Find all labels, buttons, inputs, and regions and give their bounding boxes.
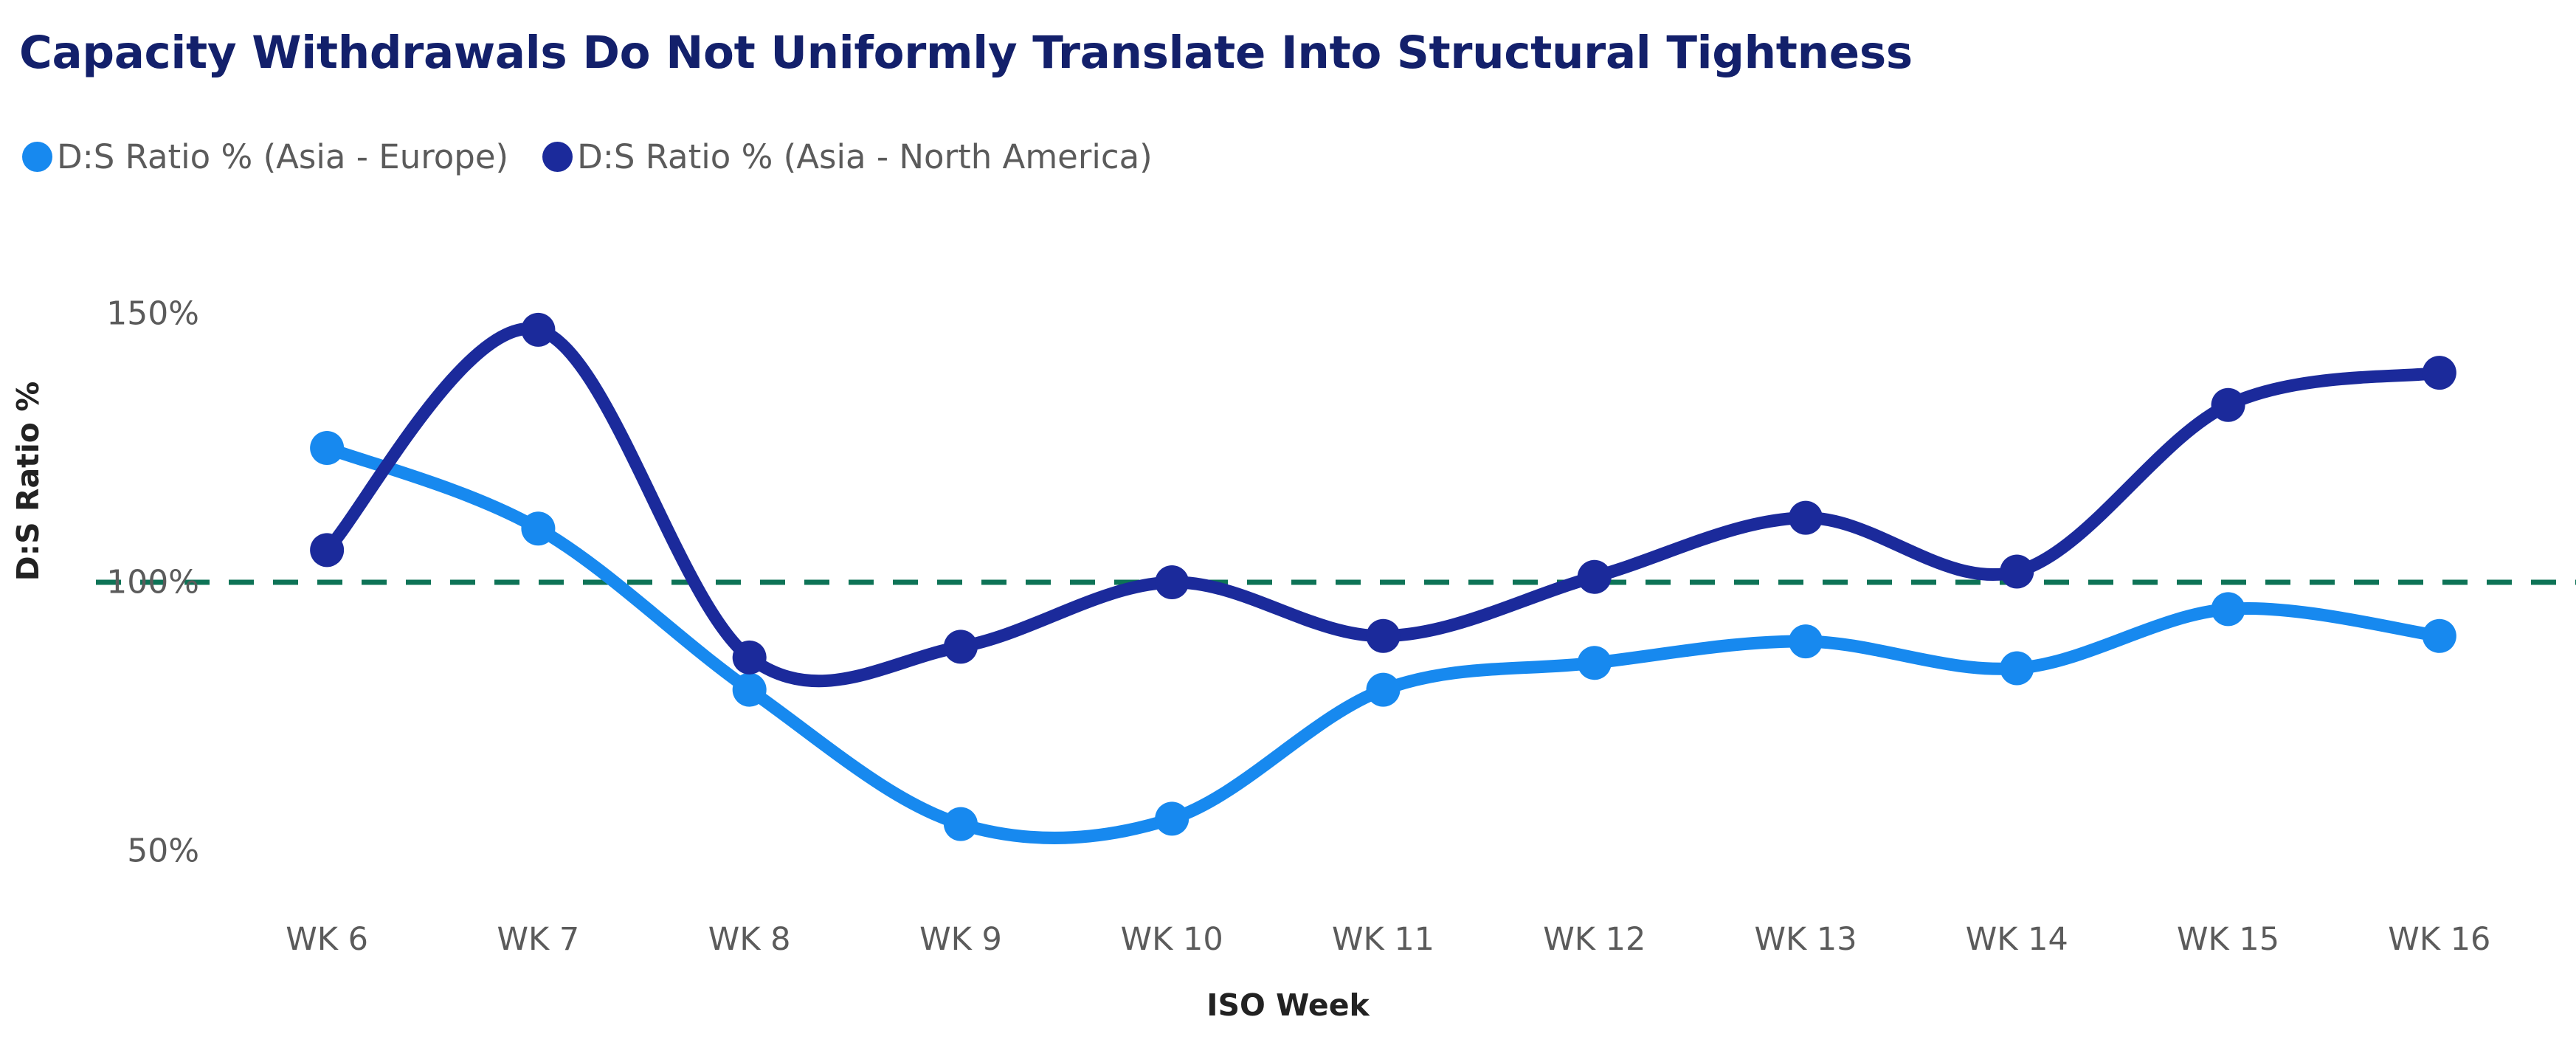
data-point-marker[interactable] xyxy=(1367,619,1401,653)
y-axis-tick-label: 150% xyxy=(0,295,199,333)
data-point-marker[interactable] xyxy=(2423,619,2456,653)
data-point-marker[interactable] xyxy=(1578,646,1612,680)
data-point-marker[interactable] xyxy=(310,533,344,567)
data-point-marker[interactable] xyxy=(2000,651,2034,685)
x-axis-title: ISO Week xyxy=(0,987,2576,1023)
plot-svg xyxy=(0,0,2576,1045)
data-point-marker[interactable] xyxy=(521,313,555,347)
x-axis-tick-label: WK 15 xyxy=(2177,921,2279,958)
data-point-marker[interactable] xyxy=(1155,565,1189,599)
data-point-marker[interactable] xyxy=(1155,801,1189,835)
x-axis-tick-label: WK 7 xyxy=(497,921,580,958)
data-point-marker[interactable] xyxy=(2211,592,2245,626)
data-point-marker[interactable] xyxy=(1789,501,1823,535)
data-point-marker[interactable] xyxy=(1578,560,1612,594)
data-point-marker[interactable] xyxy=(2423,356,2456,390)
data-point-marker[interactable] xyxy=(1367,673,1401,707)
chart-container: Capacity Withdrawals Do Not Uniformly Tr… xyxy=(0,0,2576,1045)
x-axis-tick-label: WK 9 xyxy=(919,921,1002,958)
data-point-marker[interactable] xyxy=(733,641,767,675)
data-point-marker[interactable] xyxy=(2211,388,2245,422)
data-point-marker[interactable] xyxy=(733,673,767,707)
x-axis-tick-label: WK 10 xyxy=(1121,921,1223,958)
y-axis-tick-label: 100% xyxy=(0,564,199,601)
x-axis-tick-label: WK 14 xyxy=(1966,921,2068,958)
x-axis-tick-label: WK 13 xyxy=(1754,921,1857,958)
data-point-marker[interactable] xyxy=(310,431,344,465)
data-point-marker[interactable] xyxy=(1789,624,1823,658)
plot-area xyxy=(0,0,2576,1045)
data-point-marker[interactable] xyxy=(521,511,555,545)
x-axis-tick-label: WK 11 xyxy=(1332,921,1434,958)
data-point-marker[interactable] xyxy=(944,630,978,663)
y-axis-tick-label: 50% xyxy=(0,832,199,870)
data-point-marker[interactable] xyxy=(944,807,978,841)
x-axis-tick-label: WK 8 xyxy=(708,921,791,958)
x-axis-tick-label: WK 16 xyxy=(2388,921,2490,958)
data-point-marker[interactable] xyxy=(2000,554,2034,588)
x-axis-tick-label: WK 6 xyxy=(286,921,368,958)
x-axis-tick-label: WK 12 xyxy=(1543,921,1646,958)
